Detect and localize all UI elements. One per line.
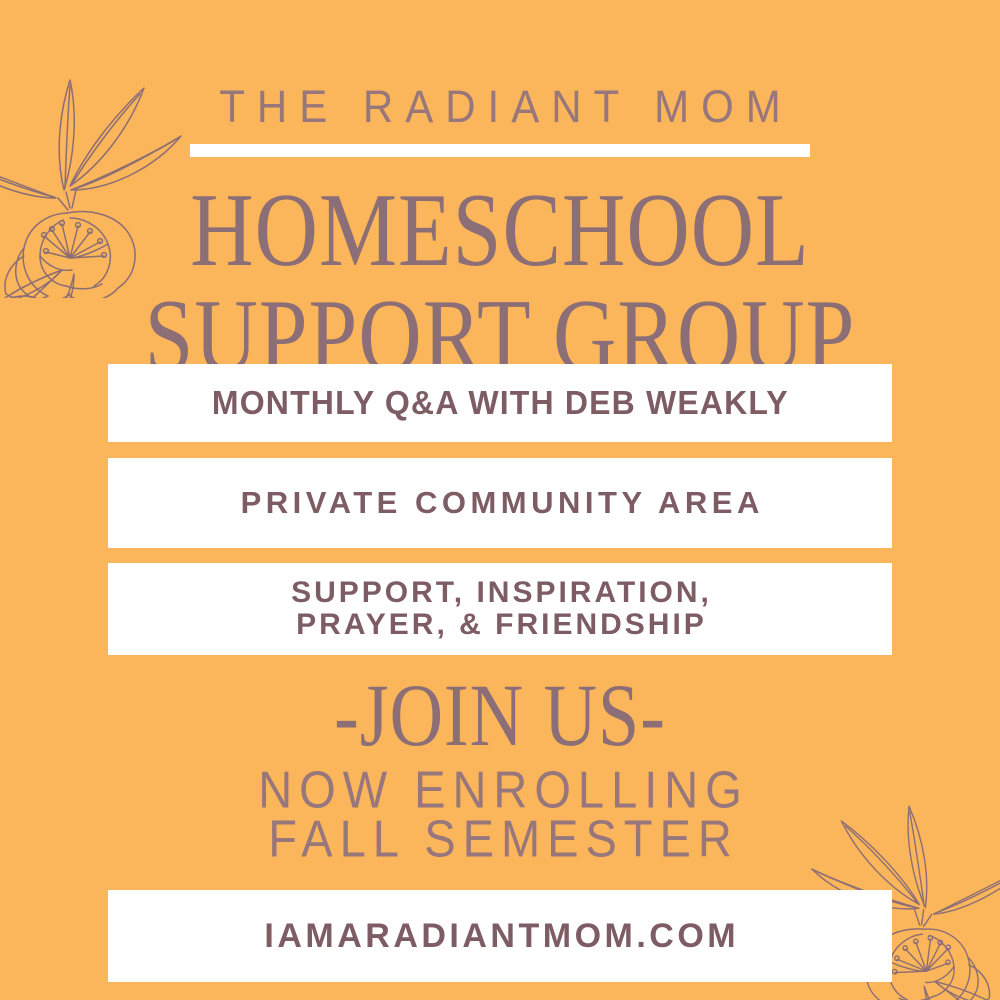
feature-banner-qa-label: MONTHLY Q&A WITH DEB WEAKLY — [212, 385, 789, 421]
website-banner[interactable]: IAMARADIANTMOM.COM — [108, 890, 892, 982]
feature-banner-support-line-1: SUPPORT, INSPIRATION, — [288, 577, 712, 609]
title-line-1: HOMESCHOOL — [0, 182, 1000, 280]
header-divider-bar — [190, 144, 810, 157]
brand-name: THE RADIANT MOM — [0, 84, 1000, 129]
enrollment-notice: NOW ENROLLING FALL SEMESTER — [0, 765, 1000, 864]
feature-banner-support: SUPPORT, INSPIRATION, PRAYER, & FRIENDSH… — [108, 563, 892, 655]
feature-banner-support-line-2: PRAYER, & FRIENDSHIP — [288, 609, 712, 641]
poster-header: THE RADIANT MOM — [0, 86, 1000, 157]
feature-banner-support-label: SUPPORT, INSPIRATION, PRAYER, & FRIENDSH… — [288, 577, 712, 642]
feature-banner-community-label: PRIVATE COMMUNITY AREA — [236, 486, 764, 519]
enroll-line-2: FALL SEMESTER — [0, 812, 1000, 866]
feature-banner-community: PRIVATE COMMUNITY AREA — [108, 458, 892, 548]
poster-canvas: THE RADIANT MOM HOMESCHOOL SUPPORT GROUP… — [0, 0, 1000, 1000]
feature-banner-qa: MONTHLY Q&A WITH DEB WEAKLY — [108, 364, 892, 442]
join-us-heading: -JOIN US- — [0, 672, 1000, 761]
page-title: HOMESCHOOL SUPPORT GROUP — [0, 182, 1000, 368]
website-url-label: IAMARADIANTMOM.COM — [261, 918, 739, 955]
